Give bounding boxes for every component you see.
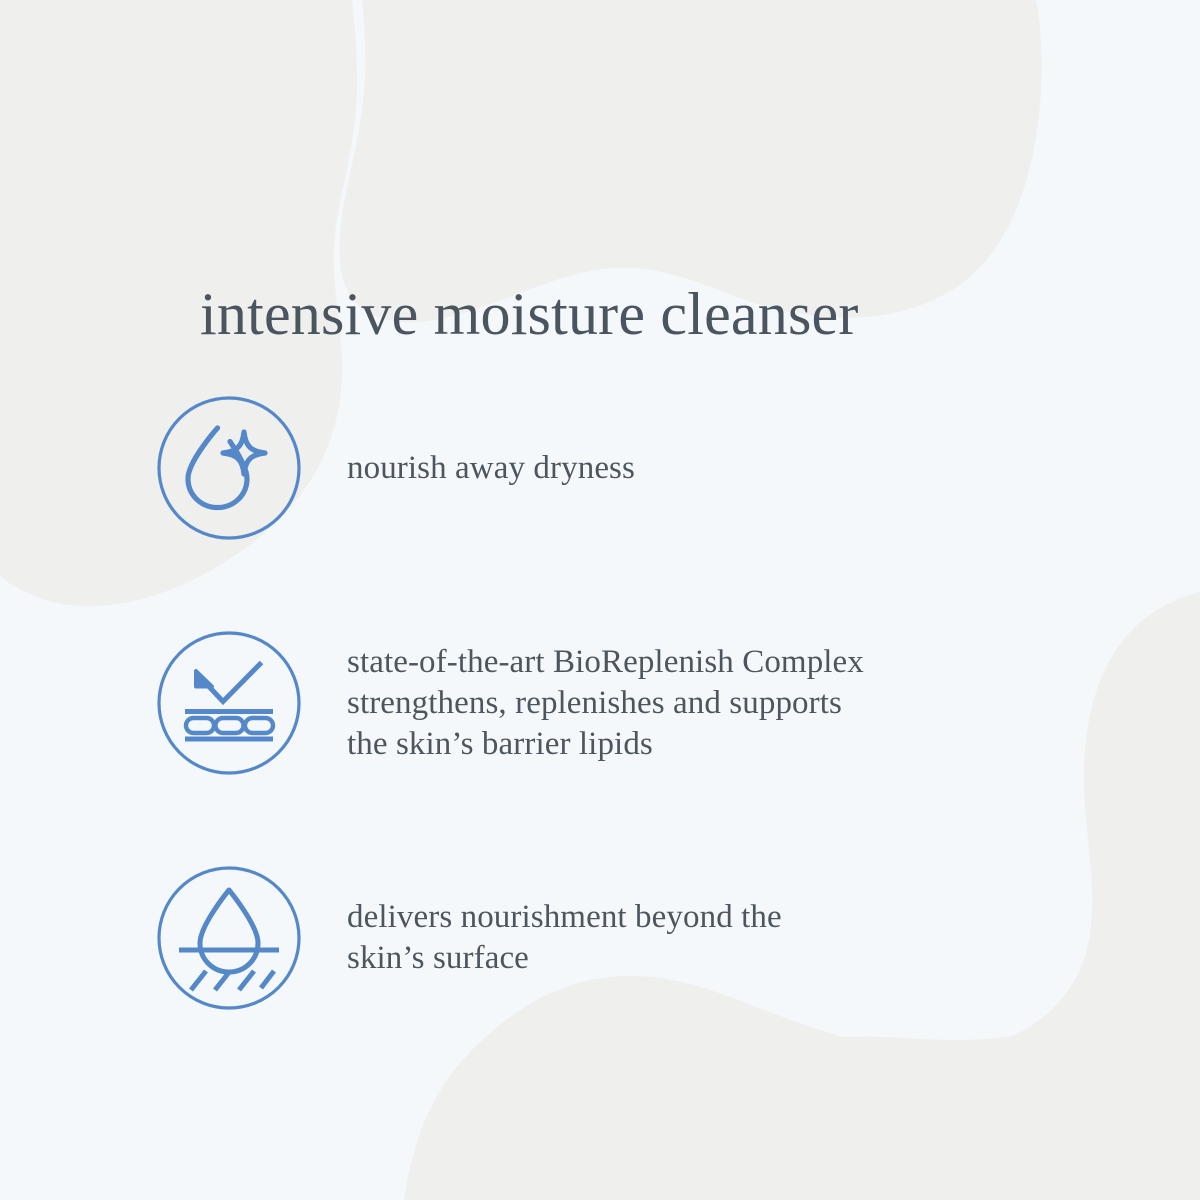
benefit-text: delivers nourishment beyond the skin’s s… [347,897,1085,979]
benefit-text: nourish away dryness [347,448,1085,489]
list-item: nourish away dryness [155,394,1085,542]
benefit-line: nourish away dryness [347,448,1085,489]
list-item: delivers nourishment beyond the skin’s s… [155,864,1085,1012]
benefit-text: state-of-the-art BioReplenish Complex st… [347,642,1085,765]
benefit-line: delivers nourishment beyond the [347,897,1085,938]
benefit-line: the skin’s barrier lipids [347,724,1085,765]
product-benefits-card: intensive moisture cleanser nourish away… [0,0,1200,1200]
benefit-line: state-of-the-art BioReplenish Complex [347,642,1085,683]
benefit-line: skin’s surface [347,938,1085,979]
benefit-line: strengthens, replenishes and supports [347,683,1085,724]
benefits-list: nourish away dryness [0,0,1200,1200]
card-content: intensive moisture cleanser nourish away… [0,0,1200,1200]
droplet-sparkle-icon [155,394,303,542]
skin-barrier-arrow-icon [155,629,303,777]
list-item: state-of-the-art BioReplenish Complex st… [155,629,1085,777]
droplet-penetration-icon [155,864,303,1012]
